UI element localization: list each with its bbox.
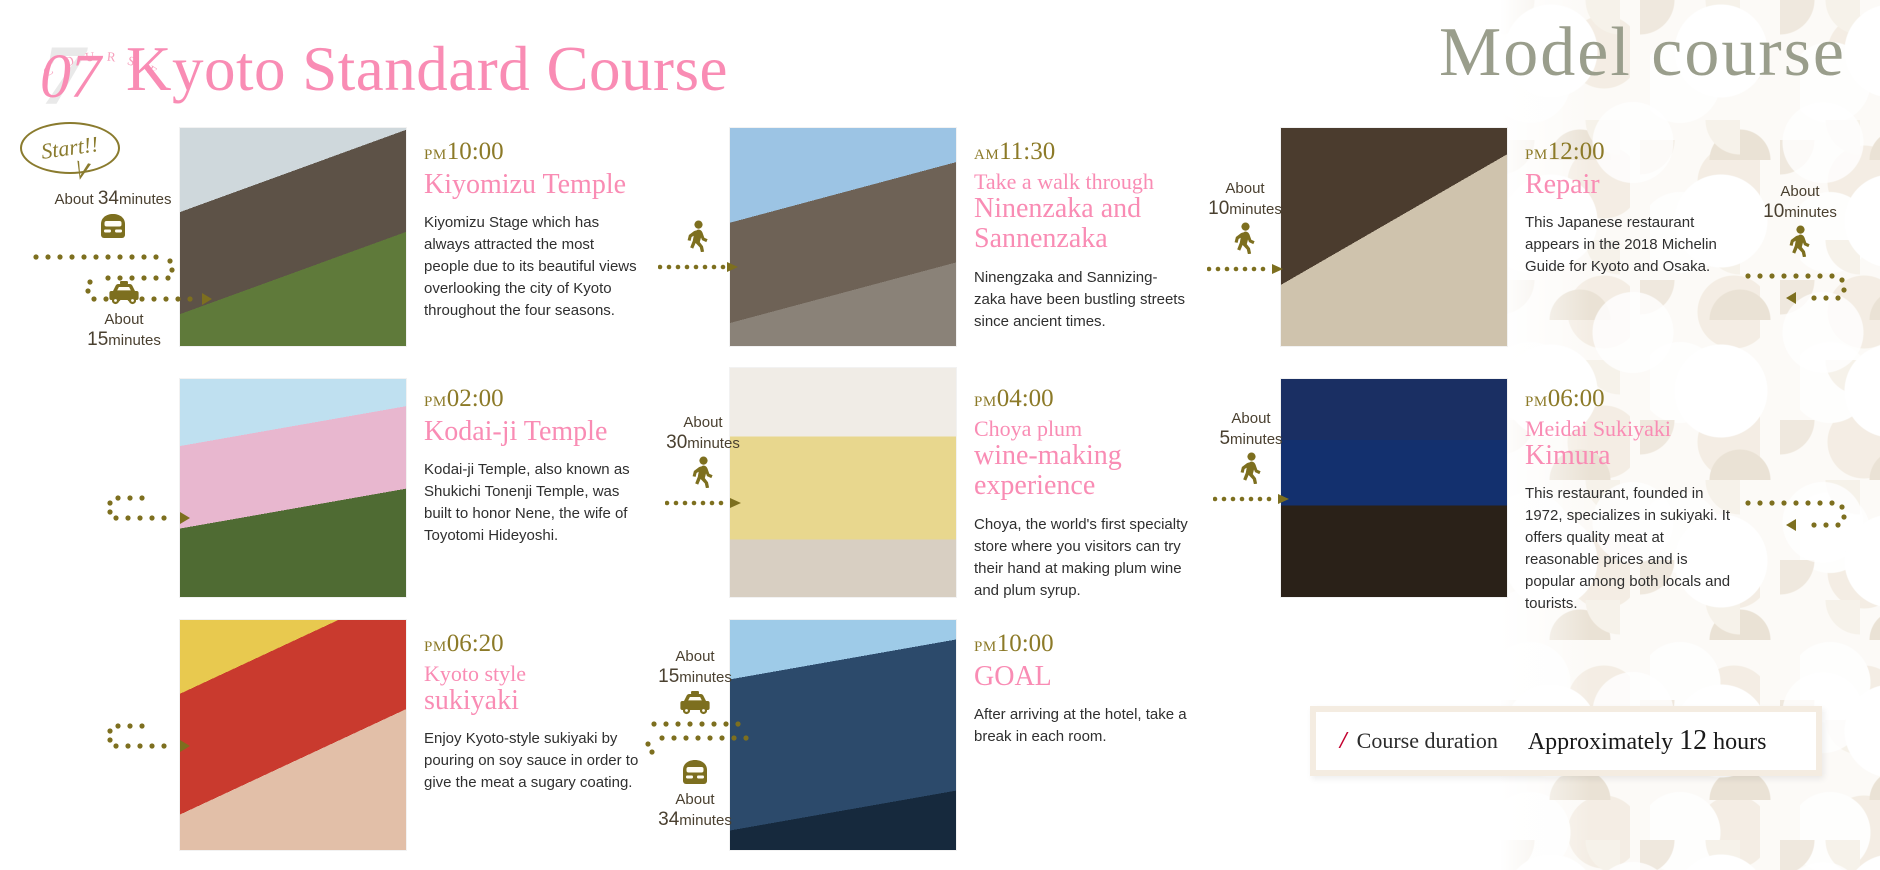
connector-start-car: About15minutes [68,278,180,351]
card-time-value: 12:00 [1548,138,1605,165]
card-title-main: Repair [1525,169,1600,200]
connector-label: About10minutes [1190,180,1300,220]
card-time-ampm: PM [974,394,997,410]
connector-arrow [648,260,748,278]
connector-unit: minutes [119,191,172,208]
dotted-arrow-right-icon [1207,263,1283,275]
connector-unit: minutes [108,332,161,349]
card-time-ampm: PM [974,639,997,655]
card-title: Kiyomizu Temple [424,170,639,201]
connector-about: About [104,311,143,328]
duration-prefix: Approximately [1528,729,1673,755]
kodai-ji-photo [180,379,406,597]
dotted-path-icon [100,490,196,530]
start-label: Start!! [40,131,101,165]
card-time: AM11:30 [974,138,1189,166]
card-time-value: 11:30 [999,138,1055,165]
start-bubble: Start!! [20,122,120,174]
repair-photo [1281,128,1507,346]
dotted-arrow-right-icon [1213,493,1289,505]
connector-about: About [1225,180,1264,197]
connector-start-train: About 34minutes [28,188,198,245]
connector-label: About10minutes [1745,183,1855,223]
connector-unit: minutes [1230,431,1283,448]
left-entry-arrow-row3 [100,718,190,758]
course-number: 07 [40,46,100,108]
card-time-value: 06:20 [447,630,504,657]
card-title-main: Kimura [1525,441,1740,472]
page-title: Kyoto Standard Course [126,38,728,101]
connector-label: About30minutes [648,414,758,454]
course-duration-badge: / Course duration Approximately 12 hours [1310,706,1822,776]
connector-icon [648,220,748,257]
card-kodai-ji-temple: PM02:00Kodai-ji TempleKodai-ji Temple, a… [424,385,639,547]
connector-unit: minutes [687,435,740,452]
model-course-heading: Model course [1439,18,1846,88]
connector-label: About15minutes [640,648,750,688]
kimura-photo [1281,379,1507,597]
connector-number: 15 [658,666,679,687]
card-title: GOAL [974,662,1189,693]
walk-icon [690,456,716,488]
connector-icon [640,758,750,791]
card-title-main: Kiyomizu Temple [424,169,626,200]
ninenzaka-photo [730,128,956,346]
card-description: This restaurant, founded in 1972, specia… [1525,483,1740,614]
walk-icon [1232,222,1258,254]
card-description: This Japanese restaurant appears in the … [1525,212,1740,278]
walk-icon [1238,452,1264,484]
connector-icon [28,212,198,245]
connector-about: About [1780,183,1819,200]
connector-arrow [1190,262,1300,280]
card-title-small: Meidai Sukiyaki [1525,417,1740,441]
card-title: Repair [1525,170,1740,201]
card-time-ampm: PM [424,147,447,163]
card-description: Kiyomizu Stage which has always attracte… [424,212,639,321]
card-ninenzaka-sannenzaka: AM11:30Take a walk throughNinenzaka and … [974,138,1189,333]
slash-mark: / [1340,728,1347,755]
connector-about: About [675,791,714,808]
card-title: Kyoto stylesukiyaki [424,662,639,717]
connector-label: About34minutes [640,791,750,831]
course-duration-value: Approximately 12 hours [1528,725,1767,757]
card-time-value: 04:00 [997,385,1054,412]
card-time-ampm: PM [424,639,447,655]
card-meidai-sukiyaki-kimura: PM06:00Meidai SukiyakiKimuraThis restaur… [1525,385,1740,615]
course-badge: 7 COURSE 07 [18,14,143,106]
connector-number: 34 [658,809,679,830]
connector-unit: minutes [679,812,732,829]
dotted-arrow-right-icon [658,261,738,273]
card-goal: PM10:00GOALAfter arriving at the hotel, … [974,630,1189,748]
card-description: Kodai-ji Temple, also known as Shukichi … [424,459,639,547]
card-choya-plum-wine: PM04:00Choya plumwine-making experienceC… [974,385,1189,602]
connector-kodaiji-to-choya: About30minutes [648,414,758,514]
card-time-value: 02:00 [447,385,504,412]
connector-icon [1745,225,1855,262]
connector-kiyomizu-to-ninenzaka [648,218,748,278]
card-title: Choya plumwine-making experience [974,417,1189,503]
connector-label: About15minutes [68,311,180,351]
connector-icon [648,456,758,493]
kyoto-sukiyaki-photo [180,620,406,850]
wrap-dotted-path-row2 [1742,495,1872,543]
connector-number: 10 [1208,198,1229,219]
connector-about: About [1231,410,1270,427]
walk-icon [685,220,711,252]
card-title-small: Take a walk through [974,170,1189,194]
connector-unit: minutes [1784,204,1837,221]
train-icon [679,758,711,786]
connector-arrow [1196,492,1306,510]
card-title-main: GOAL [974,661,1052,692]
walk-icon [1787,225,1813,257]
card-time: PM02:00 [424,385,639,413]
card-title-main: Ninenzaka and Sannenzaka [974,194,1189,256]
dotted-path-icon [100,718,196,758]
card-time: PM10:00 [974,630,1189,658]
connector-icon [1190,222,1300,259]
connector-about: About [675,648,714,665]
card-title-small: Choya plum [974,417,1189,441]
card-time: PM12:00 [1525,138,1740,166]
card-time: PM06:00 [1525,385,1740,413]
card-time: PM10:00 [424,138,639,166]
connector-number: 15 [87,329,108,350]
card-time-ampm: PM [1525,394,1548,410]
card-title-small: Kyoto style [424,662,639,686]
connector-about: About [54,191,93,208]
card-title-main: Kodai-ji Temple [424,416,607,447]
card-title-main: wine-making experience [974,441,1189,503]
connector-number: 30 [666,432,687,453]
card-repair: PM12:00RepairThis Japanese restaurant ap… [1525,138,1740,278]
duration-suffix: hours [1713,729,1766,755]
connector-sukiyaki-train: About34minutes [640,756,750,831]
goal-building-photo [730,620,956,850]
connector-number: 5 [1219,428,1230,449]
card-title: Meidai SukiyakiKimura [1525,417,1740,472]
card-time-value: 06:00 [1548,385,1605,412]
card-time-ampm: PM [1525,147,1548,163]
course-duration-label: Course duration [1357,728,1498,754]
card-time-ampm: PM [424,394,447,410]
card-kiyomizu-temple: PM10:00Kiyomizu TempleKiyomizu Stage whi… [424,138,639,322]
card-time: PM06:20 [424,630,639,658]
car-icon [677,690,713,716]
card-description: Choya, the world's first specialty store… [974,514,1189,602]
card-description: Enjoy Kyoto-style sukiyaki by pouring on… [424,728,639,794]
connector-number: 34 [98,188,119,209]
card-title: Take a walk throughNinenzaka and Sannenz… [974,170,1189,256]
train-icon [97,212,129,240]
connector-sukiyaki-car: About15minutes [640,648,750,721]
dotted-path-icon [1742,268,1872,312]
connector-number: 10 [1763,201,1784,222]
left-entry-arrow-row2 [100,490,190,530]
connector-icon [68,280,180,311]
connector-repair-to-kodaiji: About10minutes [1745,183,1855,262]
card-kyoto-style-sukiyaki: PM06:20Kyoto stylesukiyakiEnjoy Kyoto-st… [424,630,639,794]
connector-unit: minutes [1229,201,1282,218]
card-time: PM04:00 [974,385,1189,413]
card-time-value: 10:00 [447,138,504,165]
card-title-main: sukiyaki [424,686,639,717]
wrap-dotted-path-row1 [1742,268,1872,316]
connector-arrow [648,496,758,514]
connector-choya-to-kimura: About5minutes [1196,410,1306,510]
connector-icon [640,690,750,721]
card-time-ampm: AM [974,147,999,163]
dotted-path-icon [1742,495,1872,539]
card-time-value: 10:00 [997,630,1054,657]
duration-number: 12 [1679,725,1707,756]
connector-label: About5minutes [1196,410,1306,450]
card-description: Ninengzaka and Sannizing-zaka have been … [974,267,1189,333]
card-title: Kodai-ji Temple [424,417,639,448]
car-icon [106,280,142,306]
connector-icon [1196,452,1306,489]
connector-about: About [683,414,722,431]
connector-ninenzaka-to-repair: About10minutes [1190,180,1300,280]
dotted-path-icon [640,718,760,758]
choya-plum-photo [730,368,956,597]
card-description: After arriving at the hotel, take a brea… [974,704,1189,748]
connector-label: About 34minutes [28,188,198,210]
connector-unit: minutes [679,669,732,686]
dotted-arrow-right-icon [665,497,741,509]
